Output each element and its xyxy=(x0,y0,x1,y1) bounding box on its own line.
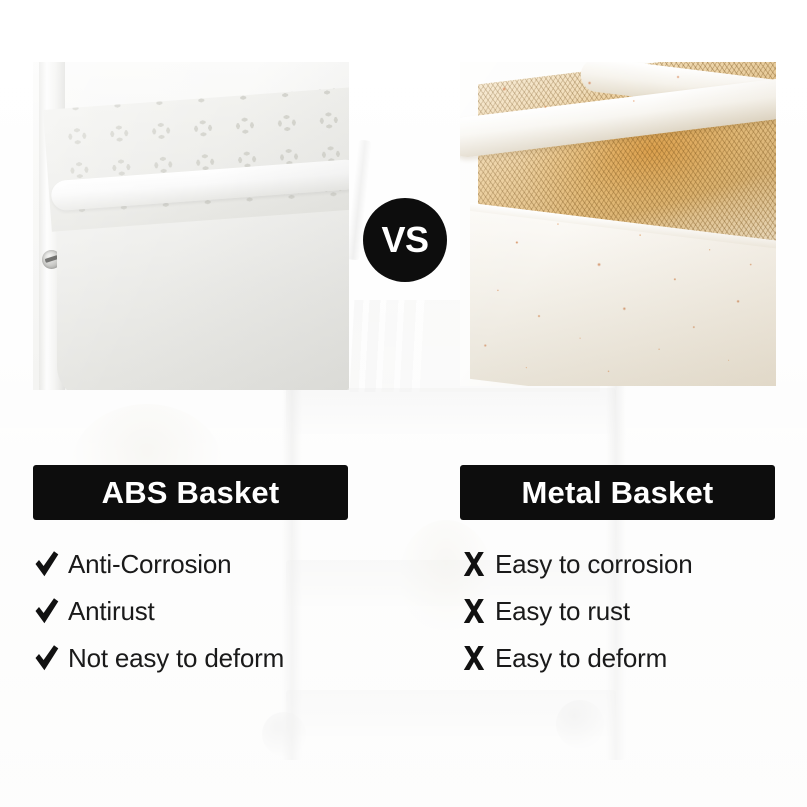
metal-feature-row-2: Easy to rust xyxy=(460,596,800,626)
abs-photo-lighting-overlay xyxy=(33,62,349,390)
check-icon xyxy=(33,549,61,579)
metal-feature-label-3: Easy to deform xyxy=(495,645,667,671)
ghost-cart-shelf-top xyxy=(286,388,616,434)
metal-feature-row-1: Easy to corrosion xyxy=(460,549,800,579)
check-icon xyxy=(33,596,61,626)
metal-feature-label-2: Easy to rust xyxy=(495,598,630,624)
metal-feature-list: Easy to corrosion Easy to rust Easy to d… xyxy=(460,549,800,673)
abs-feature-label-3: Not easy to deform xyxy=(68,645,284,671)
cross-icon xyxy=(460,596,488,626)
abs-feature-row-2: Antirust xyxy=(33,596,373,626)
abs-plastic-basket-clean-photo xyxy=(33,62,349,390)
ghost-caster-left xyxy=(262,712,306,756)
abs-feature-list: Anti-Corrosion Antirust Not easy to defo… xyxy=(33,549,373,673)
abs-title-label: ABS Basket xyxy=(102,477,280,508)
abs-feature-label-1: Anti-Corrosion xyxy=(68,551,231,577)
comparison-infographic: VS ABS Basket Anti-Corrosion Antirust xyxy=(0,0,807,807)
vs-badge: VS xyxy=(363,198,447,282)
cross-icon xyxy=(460,643,488,673)
abs-title-box: ABS Basket xyxy=(33,465,348,520)
metal-feature-label-1: Easy to corrosion xyxy=(495,551,692,577)
check-icon xyxy=(33,643,61,673)
ghost-cart-shelf-bottom xyxy=(286,690,616,736)
abs-feature-row-1: Anti-Corrosion xyxy=(33,549,373,579)
abs-feature-label-2: Antirust xyxy=(68,598,155,624)
comparison-column-metal: Metal Basket Easy to corrosion Easy to r… xyxy=(460,465,800,673)
comparison-column-abs: ABS Basket Anti-Corrosion Antirust Not e… xyxy=(33,465,373,673)
metal-title-box: Metal Basket xyxy=(460,465,775,520)
metal-photo-lighting-overlay xyxy=(460,62,776,386)
abs-feature-row-3: Not easy to deform xyxy=(33,643,373,673)
ghost-caster-right xyxy=(556,700,604,748)
metal-feature-row-3: Easy to deform xyxy=(460,643,800,673)
cross-icon xyxy=(460,549,488,579)
vs-badge-label: VS xyxy=(381,219,428,261)
metal-title-label: Metal Basket xyxy=(522,477,714,508)
metal-basket-rusted-photo xyxy=(460,62,776,386)
